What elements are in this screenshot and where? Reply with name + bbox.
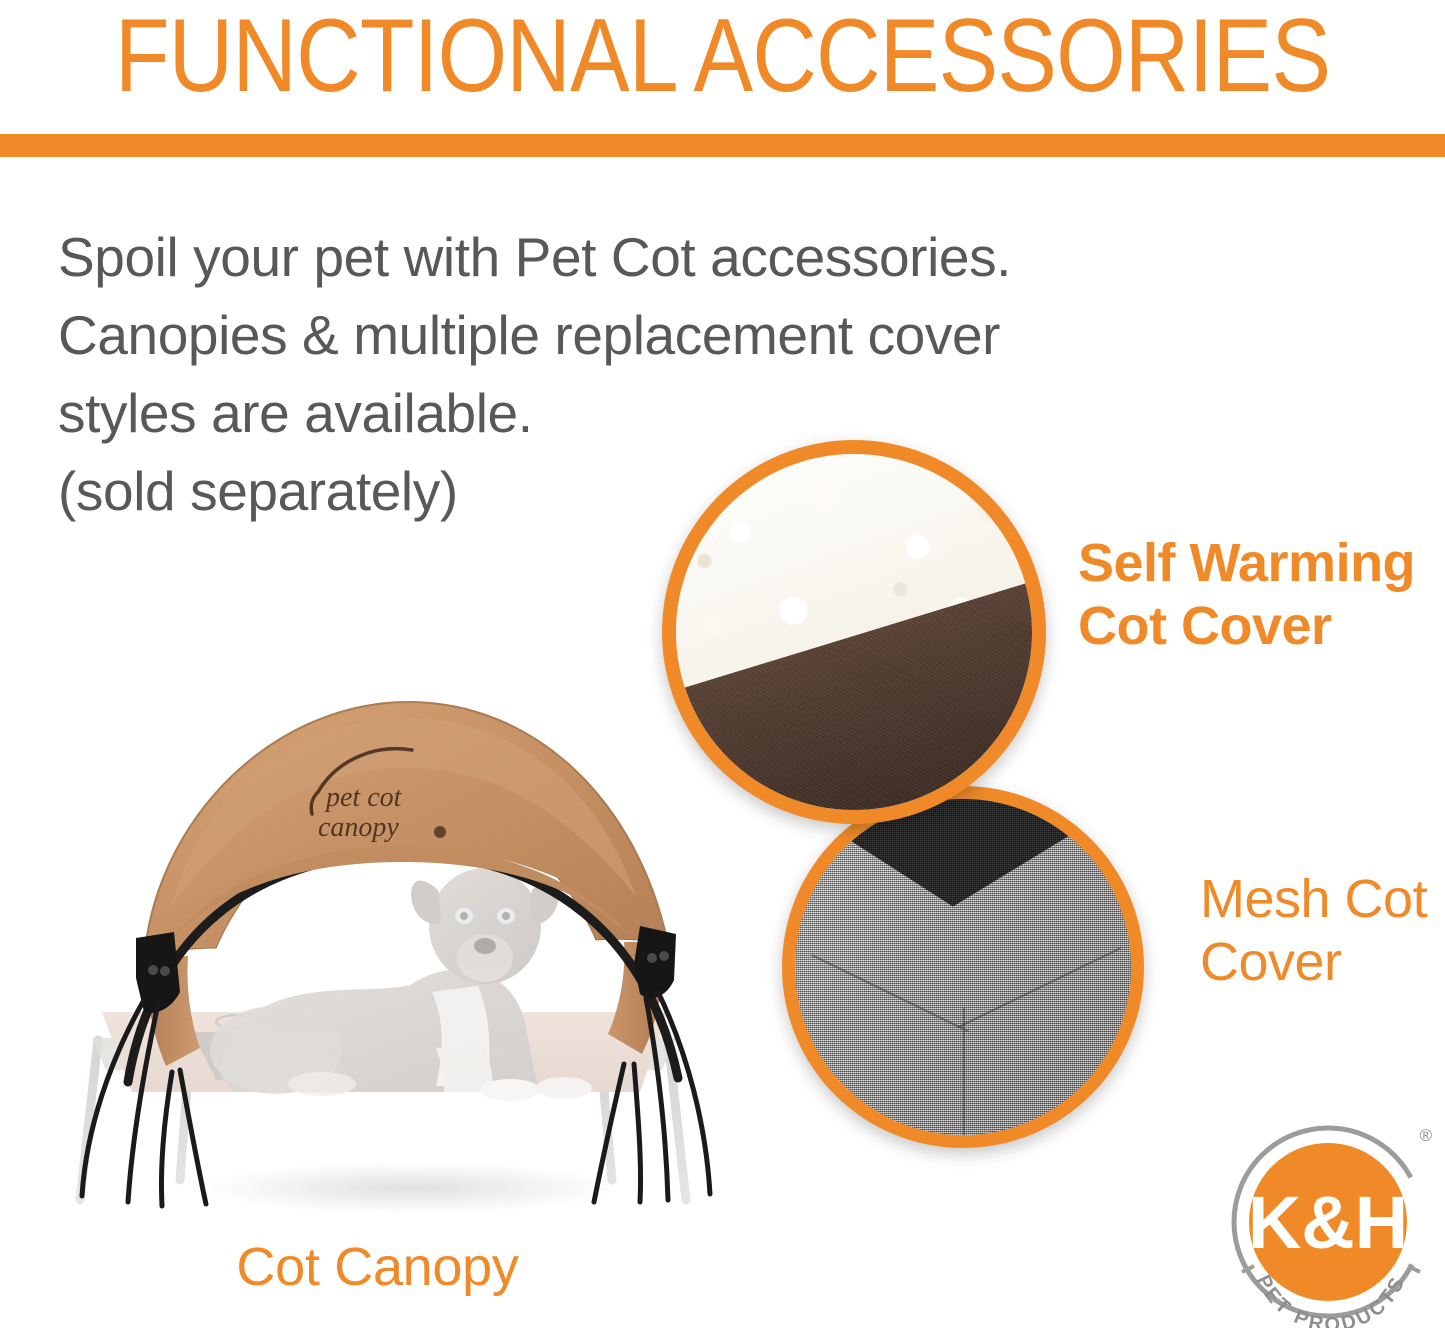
canopy-right-corner-anchor: [634, 926, 676, 998]
body-copy-line-3: styles are available.: [58, 374, 718, 452]
body-copy-line-1: Spoil your pet with Pet Cot accessories.: [58, 218, 718, 296]
svg-text:pet cot: pet cot: [324, 782, 403, 813]
svg-text:canopy: canopy: [318, 812, 399, 843]
body-copy: Spoil your pet with Pet Cot accessories.…: [58, 218, 718, 530]
header-divider-rule: [0, 134, 1445, 157]
mesh-swatch-photo: [795, 799, 1131, 1135]
mesh-cot-cover-circle: [782, 786, 1144, 1148]
product-caption-cot-canopy: Cot Canopy: [0, 1236, 755, 1298]
callout-label-mesh-cot-cover: Mesh Cot Cover: [1200, 868, 1427, 993]
cot-canopy-product-photo: pet cot canopy: [40, 640, 760, 1240]
callout-label-line-1: Self Warming: [1078, 532, 1415, 595]
callout-label-line-1: Mesh Cot: [1200, 868, 1427, 931]
page-title: FUNCTIONAL ACCESSORIES: [101, 0, 1344, 119]
callout-label-self-warming-cot-cover: Self Warming Cot Cover: [1078, 532, 1415, 657]
registered-trademark-icon: ®: [1419, 1126, 1432, 1146]
logo-brand-text: K&H: [1248, 1181, 1408, 1264]
kh-logo-svg: K&H PET PRODUCTS: [1228, 1122, 1434, 1328]
marketing-infographic: FUNCTIONAL ACCESSORIES Spoil your pet wi…: [0, 0, 1445, 1336]
body-copy-line-4: (sold separately): [58, 452, 718, 530]
kh-pet-products-logo: K&H PET PRODUCTS ®: [1228, 1122, 1434, 1328]
callout-label-line-2: Cover: [1200, 931, 1427, 994]
body-copy-line-2: Canopies & multiple replacement cover: [58, 296, 718, 374]
callout-label-line-2: Cot Cover: [1078, 595, 1415, 658]
cot-canopy-illustration: pet cot canopy: [40, 640, 760, 1240]
